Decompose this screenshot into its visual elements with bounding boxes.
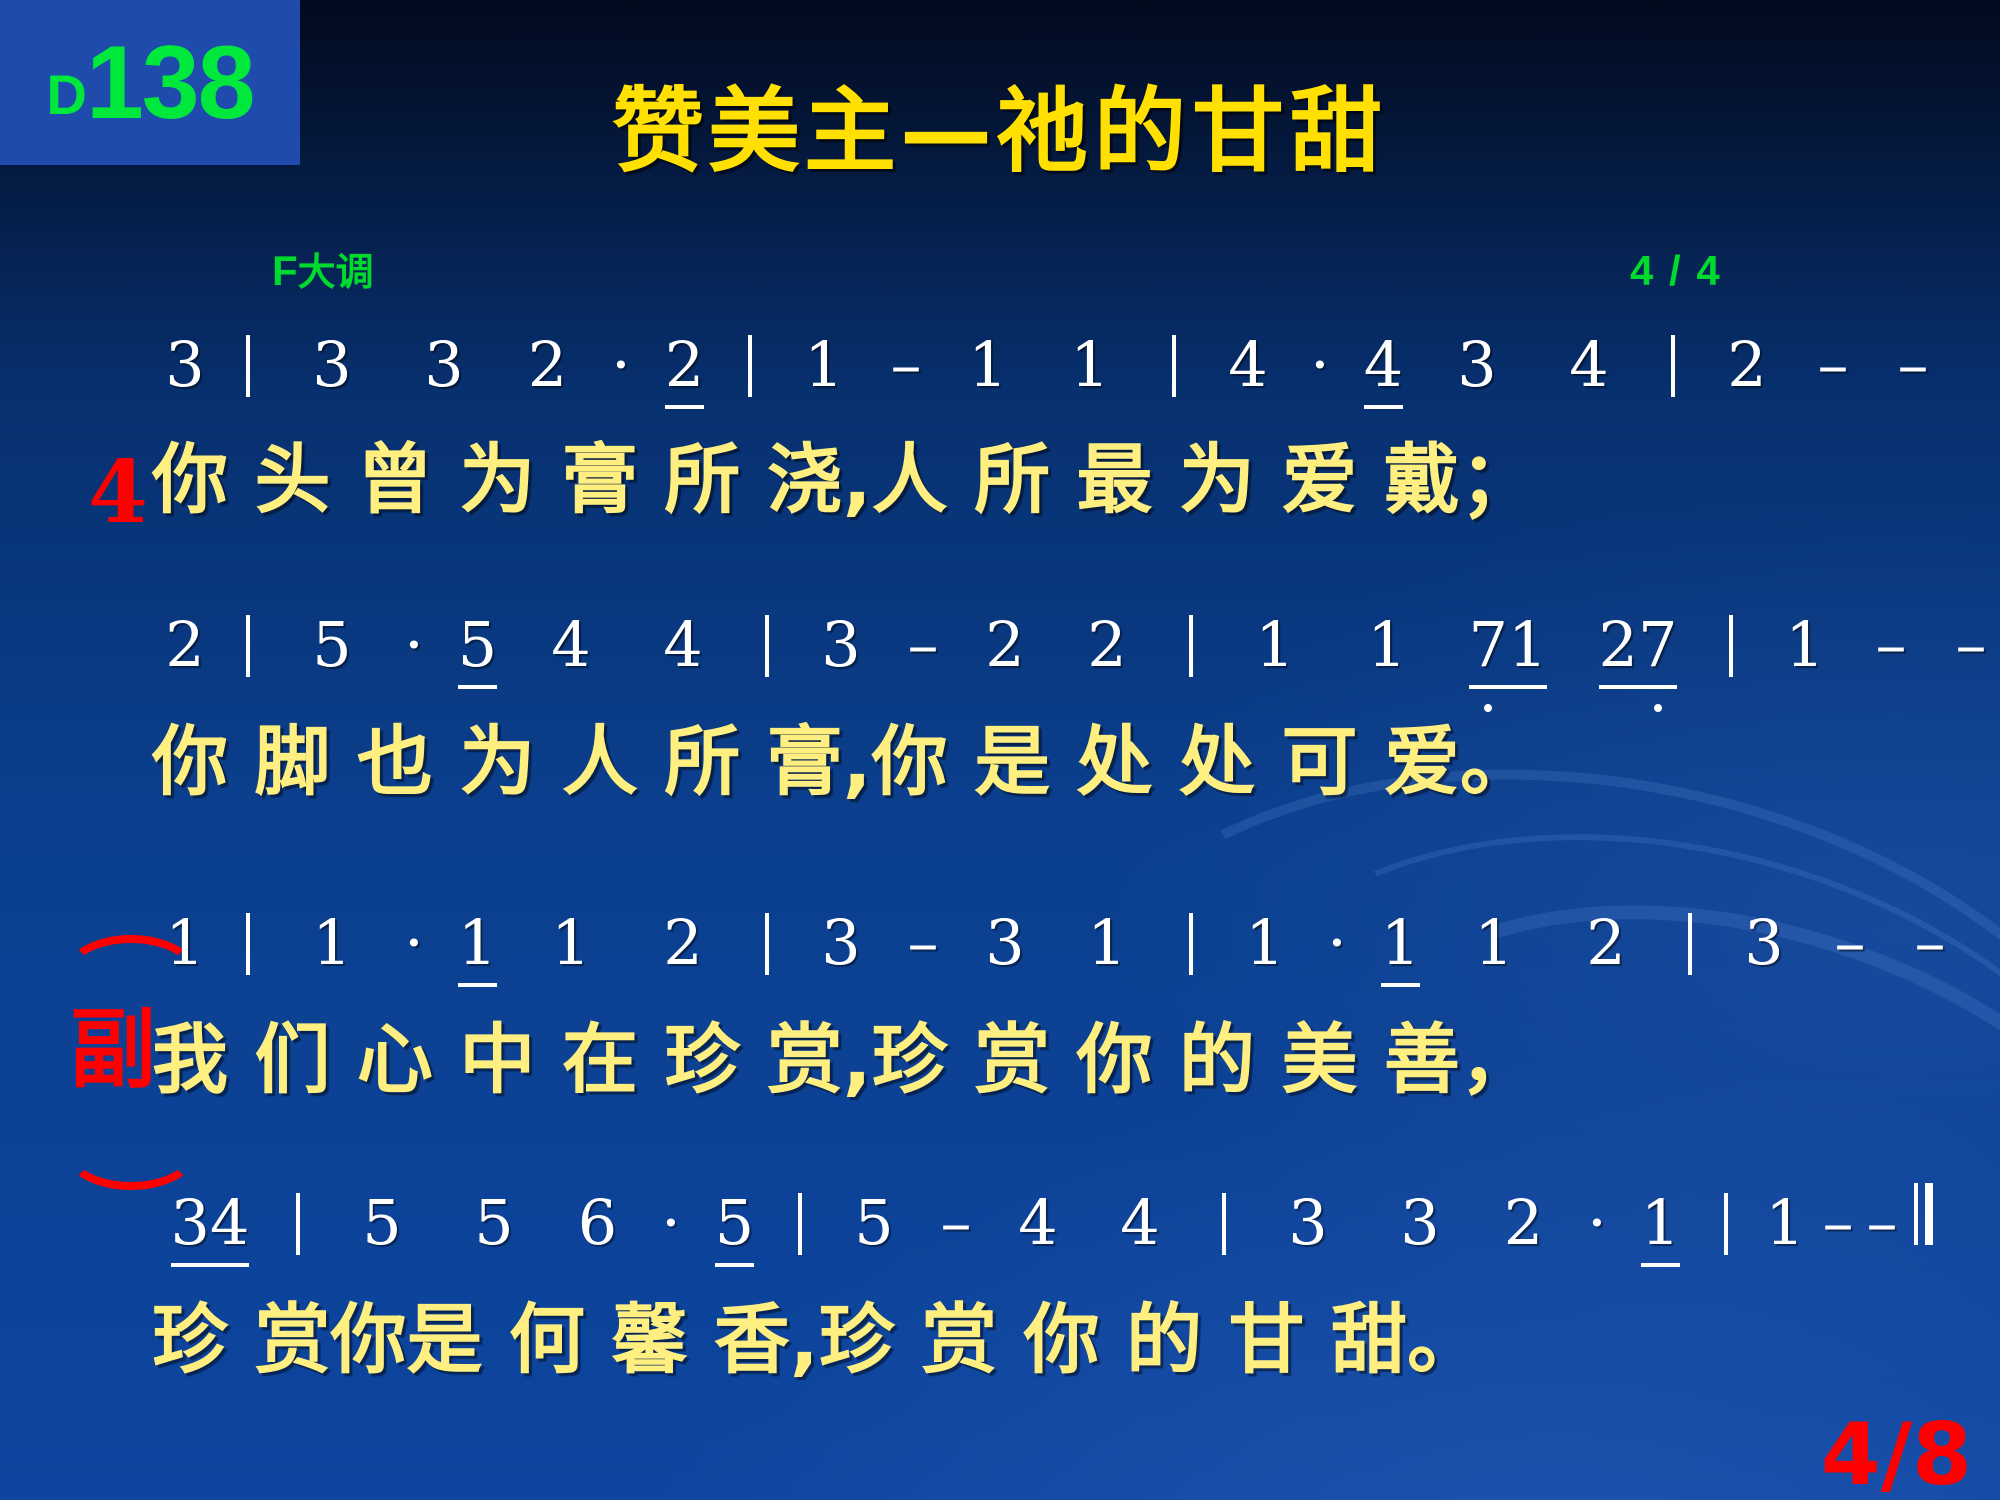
notation-line-1: 3332·21–114·4342–– [150,320,1950,410]
note: 5 [474,1186,513,1259]
note: 5 [458,608,497,681]
note: 1 [1474,906,1513,979]
duration-dash: – [887,898,959,988]
background-swoosh-3 [1227,789,2000,1500]
barline [1724,1193,1728,1255]
note: 1 [458,906,497,979]
note: 4 [1569,328,1608,401]
chorus-marker-label: 副 [70,1007,156,1093]
note: 4 [1202,320,1294,410]
key-mode: 大调 [298,249,374,294]
note: 1 [165,906,204,979]
eighth-note: 2 [647,320,722,410]
notation-line-2: 25·5443–221171271–– [150,600,1950,690]
note: 3 [795,898,887,988]
augmentation-dot: · [595,320,647,410]
barline [246,615,250,677]
barline [1189,615,1193,677]
note: 4 [210,1186,249,1259]
eighth-note: 5 [440,600,515,690]
key-signature: F大调 [272,250,374,292]
eighth-note: 1 [440,898,515,988]
duration-dash: – [1793,320,1873,410]
note: 2 [663,906,702,979]
augmentation-dot: · [1571,1178,1623,1268]
note: 2 [1504,1186,1543,1259]
augmentation-dot: · [388,898,440,988]
song-title: 赞美主—祂的甘甜 [0,85,2000,178]
note: 2 [1586,906,1625,979]
duration-dash: – [1890,898,1970,988]
note: 1 [1219,600,1331,690]
note-low-octave: 7 [1638,600,1677,690]
note: 3 [1252,1178,1364,1268]
note: 2 [1727,328,1766,401]
note: 1 [1051,898,1163,988]
lyric-line-1: 你 头 曾 为 膏 所 浇,人 所 最 为 爱 戴； [152,430,1536,530]
note: 1 [276,898,388,988]
duration-dash: – [1873,320,1953,410]
barline [1172,335,1176,397]
time-signature: 4 / 4 [1630,250,1722,292]
note: 3 [1421,320,1533,410]
note: 3 [150,320,220,410]
duration-dash: – [920,1178,992,1268]
note: 2 [1701,320,1793,410]
note: 1 [1381,906,1420,979]
note: 1 [1219,898,1311,988]
note: 5 [312,608,351,681]
lyric-line-4: 珍 赏你是 何 馨 香,珍 赏 你 的 甘 甜。 [152,1290,1483,1390]
barline [1189,913,1193,975]
note: 2 [665,328,704,401]
note: 2 [627,898,739,988]
note: 4 [551,608,590,681]
note: 3 [1364,1178,1476,1268]
barline [246,335,250,397]
note: 2 [985,608,1024,681]
note: 4 [1018,1186,1057,1259]
eighth-note: 5 [697,1178,772,1268]
eighth-note: 1 [1363,898,1438,988]
final-double-barline [1914,1179,1933,1269]
note: 1 [1641,1186,1680,1259]
beamed-note-pair: 34 [150,1178,270,1268]
note: 5 [362,1186,401,1259]
barline [1671,335,1675,397]
note: 1 [1759,600,1851,690]
note: 3 [821,608,860,681]
note: 1 [1331,600,1443,690]
note: 3 [795,600,887,690]
note: 4 [1084,1178,1196,1268]
song-title-main: 赞美主— [612,78,996,185]
eighth-note: 1 [1623,1178,1698,1268]
note: 1 [778,320,870,410]
augmentation-dot: · [1311,898,1363,988]
barline [765,615,769,677]
note: 1 [150,898,220,988]
duration-dash: – [870,320,942,410]
notation-line-4: 34556·55–44332·11–– [150,1178,1950,1268]
note: 1 [804,328,843,401]
barline [1729,615,1733,677]
duration-dash: – [887,600,959,690]
barline [748,335,752,397]
barline [296,1193,300,1255]
note: 4 [663,608,702,681]
duration-dash: – [1810,898,1890,988]
note: 3 [1744,906,1783,979]
note: 3 [424,328,463,401]
note: 5 [326,1178,438,1268]
note: 3 [388,320,500,410]
note: 4 [627,600,739,690]
note: 1 [1087,906,1126,979]
lyric-line-3: 我 们 心 中 在 珍 赏,珍 赏 你 的 美 善， [152,1010,1536,1110]
note: 3 [165,328,204,401]
note: 3 [1457,328,1496,401]
note: 1 [1245,906,1284,979]
note: 3 [985,906,1024,979]
page-number: 4/8 [1821,1412,1972,1498]
note: 1 [1438,898,1550,988]
note: 6 [578,1186,617,1259]
duration-dash: – [1931,600,2000,690]
note: 3 [959,898,1051,988]
note: 3 [312,328,351,401]
note-low-octave: 7 [1469,600,1508,690]
note: 1 [515,898,627,988]
note: 5 [828,1178,920,1268]
note: 1 [942,320,1034,410]
verse-number-marker: 4 [88,450,148,536]
lyric-line-2: 你 脚 也 为 人 所 膏,你 是 处 处 可 爱。 [152,712,1536,812]
note: 1 [1765,1186,1804,1259]
barline [1222,1193,1226,1255]
note: 2 [959,600,1051,690]
notation-line-3: 11·1123–311·1123–– [150,898,1950,988]
song-title-sub: 祂的甘甜 [996,77,1388,185]
note: 1 [1070,328,1109,401]
note: 2 [1599,608,1638,681]
eighth-note: 4 [1346,320,1421,410]
note: 3 [1288,1186,1327,1259]
note: 4 [515,600,627,690]
note: 1 [1508,608,1547,681]
note: 1 [551,906,590,979]
note: 1 [1255,608,1294,681]
note: 3 [1718,898,1810,988]
note: 1 [1367,608,1406,681]
note: 1 [1754,1178,1816,1268]
note: 4 [1120,1186,1159,1259]
note: 4 [992,1178,1084,1268]
note: 5 [276,600,388,690]
note: 2 [1087,608,1126,681]
augmentation-dot: · [388,600,440,690]
key-letter: F [272,247,298,294]
barline [1688,913,1692,975]
duration-dash: – [1860,1178,1904,1268]
note: 3 [1400,1186,1439,1259]
note: 4 [1364,328,1403,401]
note: 3 [171,1186,210,1259]
note: 4 [1228,328,1267,401]
note: 2 [1550,898,1662,988]
augmentation-dot: · [645,1178,697,1268]
beamed-note-pair: 27 [1573,600,1703,690]
note: 5 [438,1178,550,1268]
note: 2 [500,320,595,410]
note: 3 [276,320,388,410]
note: 1 [312,906,351,979]
note: 1 [968,328,1007,401]
note: 2 [1476,1178,1571,1268]
duration-dash: – [1816,1178,1860,1268]
note: 6 [550,1178,645,1268]
note: 2 [150,600,220,690]
note: 2 [528,328,567,401]
duration-dash: – [1851,600,1931,690]
augmentation-dot: · [1294,320,1346,410]
note: 5 [854,1186,893,1259]
note: 1 [1785,608,1824,681]
barline [798,1193,802,1255]
beamed-note-pair: 71 [1443,600,1573,690]
note: 1 [1034,320,1146,410]
note: 2 [1051,600,1163,690]
note: 4 [1533,320,1645,410]
note: 3 [821,906,860,979]
note: 5 [715,1186,754,1259]
slide-canvas: D 138 赞美主—祂的甘甜 F大调 4 / 4 4 副 3332·21–114… [0,0,2000,1500]
barline [765,913,769,975]
barline [246,913,250,975]
note: 2 [165,608,204,681]
